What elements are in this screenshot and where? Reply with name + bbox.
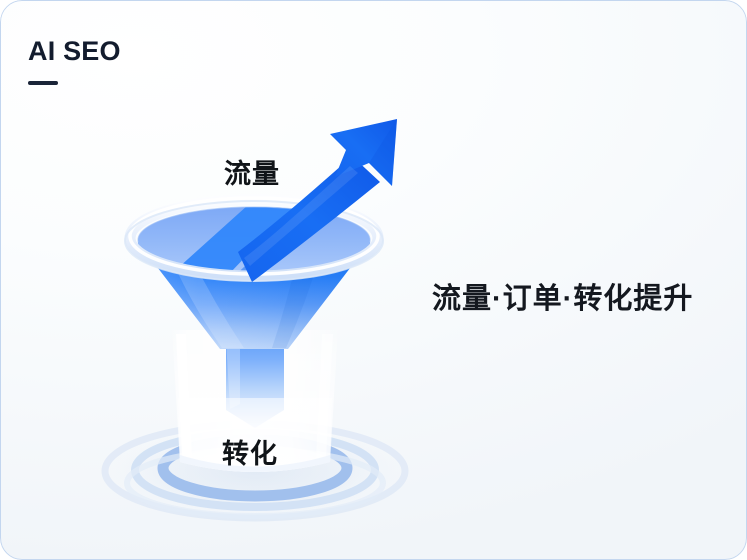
funnel-illustration [0, 0, 747, 560]
funnel-label-traffic: 流量 [224, 152, 280, 191]
funnel-label-conversion: 转化 [222, 432, 278, 471]
illustration-card: AI SEO 流量·订单·转化提升 [0, 0, 747, 560]
